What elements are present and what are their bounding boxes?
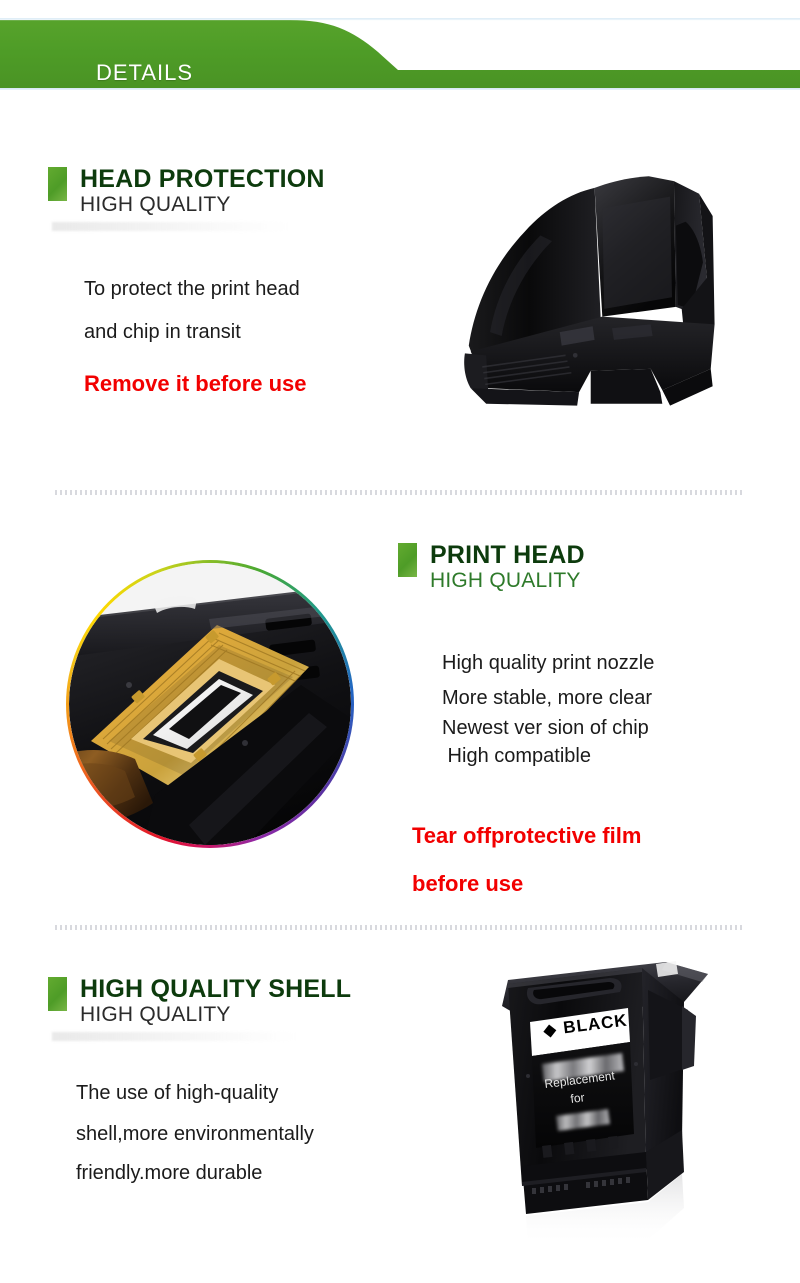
section-divider — [55, 490, 745, 495]
heading-underline-shadow — [52, 222, 288, 231]
section-subtitle: HIGH QUALITY — [80, 1002, 231, 1028]
green-square-marker-icon — [48, 977, 67, 1011]
heading-underline-shadow — [52, 1032, 296, 1041]
section-body-line-2: and chip in transit — [84, 311, 241, 354]
print-head-protector-photo — [432, 160, 742, 425]
section-body-line-4: High compatible — [442, 739, 591, 774]
black-ink-cartridge-photo: ◆ BLACK Replacement for — [470, 958, 732, 1258]
section-title: HEAD PROTECTION — [80, 164, 325, 194]
section-subtitle: HIGH QUALITY — [430, 568, 581, 594]
section-body-line-1: The use of high-quality — [76, 1072, 278, 1115]
cartridge-illustration-icon: ◆ BLACK Replacement for — [470, 958, 732, 1258]
protector-illustration-icon — [432, 160, 732, 420]
nozzle-illustration-icon — [69, 563, 351, 845]
product-details-page: DETAILS HEAD PROTECTION HIGH QUALITY To … — [0, 0, 800, 1283]
section-alert-text: Remove it before use — [84, 360, 307, 408]
banner-title: DETAILS — [96, 60, 193, 86]
print-head-nozzle-closeup-photo — [66, 560, 354, 848]
section-body-line-2: shell,more environmentally — [76, 1113, 314, 1156]
section-alert-line-2: before use — [412, 860, 523, 908]
section-title: PRINT HEAD — [430, 540, 585, 570]
green-square-marker-icon — [398, 543, 417, 577]
section-subtitle: HIGH QUALITY — [80, 192, 231, 218]
section-title: HIGH QUALITY SHELL — [80, 974, 351, 1004]
section-body-line-3: friendly.more durable — [76, 1152, 262, 1195]
circle-photo-clip — [69, 563, 351, 845]
section-divider — [55, 925, 745, 930]
section-alert-line-1: Tear offprotective film — [412, 812, 641, 860]
section-body-line-1: High quality print nozzle — [442, 646, 654, 681]
label-replacement-line2: for — [570, 1090, 586, 1106]
details-banner: DETAILS — [0, 18, 800, 90]
green-square-marker-icon — [48, 167, 67, 201]
section-body-line-1: To protect the print head — [84, 268, 300, 311]
